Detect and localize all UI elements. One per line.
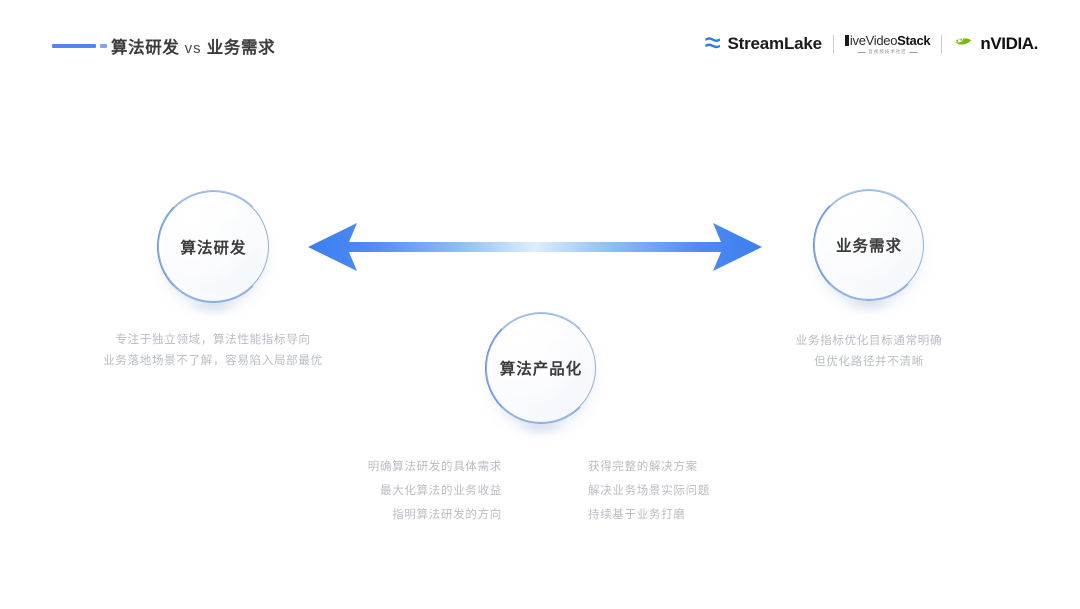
node-algorithm-rnd[interactable]: 算法研发 <box>158 191 269 302</box>
list-item: 明确算法研发的具体需求 <box>330 455 502 479</box>
caption-line: 业务落地场景不了解，容易陷入局部最优 <box>98 351 328 372</box>
list-item: 指明算法研发的方向 <box>330 503 502 527</box>
bidirectional-arrow <box>300 214 770 280</box>
node-label: 算法研发 <box>158 191 269 302</box>
node-label: 业务需求 <box>814 190 924 300</box>
node-algorithm-productization[interactable]: 算法产品化 <box>486 313 596 423</box>
caption-business-demand: 业务指标优化目标通常明确 但优化路径并不清晰 <box>768 331 970 373</box>
list-item: 持续基于业务打磨 <box>588 503 768 527</box>
slide-canvas: 算法研发 vs 业务需求 StreamLake iveV <box>0 0 1080 609</box>
node-label: 算法产品化 <box>486 313 596 423</box>
caption-line: 专注于独立领域，算法性能指标导向 <box>98 330 328 351</box>
node-business-demand[interactable]: 业务需求 <box>814 190 924 300</box>
benefits-list-right: 获得完整的解决方案 解决业务场景实际问题 持续基于业务打磨 <box>588 455 768 527</box>
benefits-list-left: 明确算法研发的具体需求 最大化算法的业务收益 指明算法研发的方向 <box>330 455 502 527</box>
node-reflection <box>827 301 911 330</box>
diagram-area: 算法研发 业务需求 算法产品化 专注于独立领域，算法性能指标导向 业务落地场景不… <box>0 0 1080 609</box>
list-item: 获得完整的解决方案 <box>588 455 768 479</box>
node-reflection <box>171 303 255 332</box>
list-item: 最大化算法的业务收益 <box>330 479 502 503</box>
caption-line: 但优化路径并不清晰 <box>768 352 970 373</box>
node-reflection <box>499 424 583 453</box>
list-item: 解决业务场景实际问题 <box>588 479 768 503</box>
caption-algorithm-rnd: 专注于独立领域，算法性能指标导向 业务落地场景不了解，容易陷入局部最优 <box>98 330 328 372</box>
caption-line: 业务指标优化目标通常明确 <box>768 331 970 352</box>
